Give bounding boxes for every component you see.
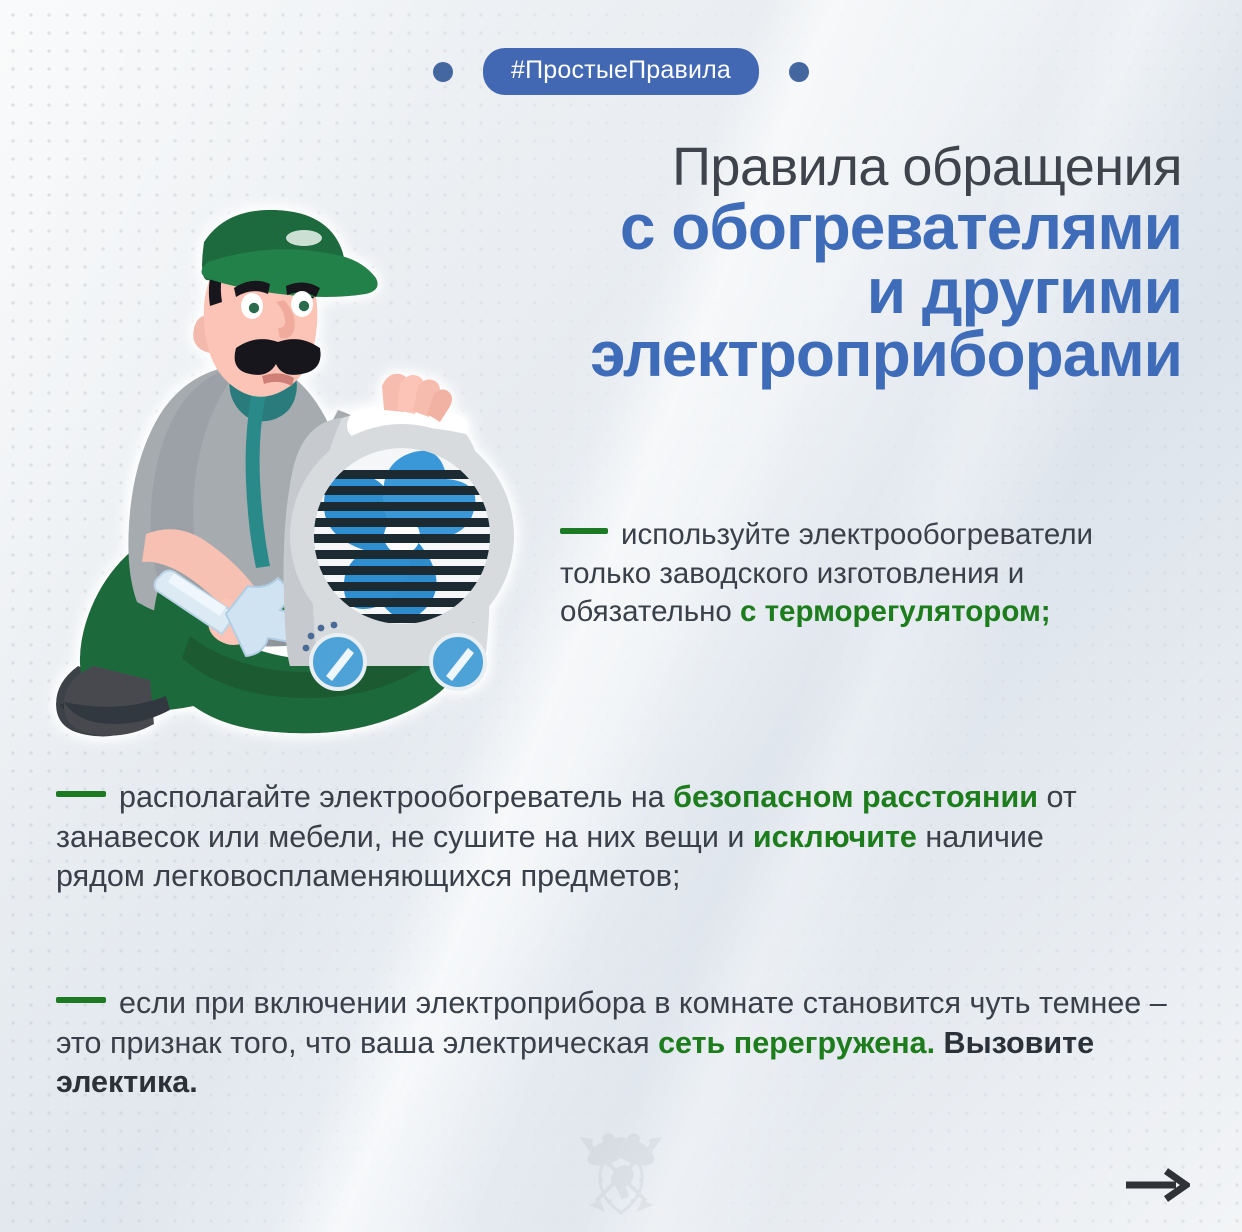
title-line-3: и другими: [342, 261, 1182, 322]
arrow-right-icon: [1124, 1168, 1190, 1202]
page-title: Правила обращения с обогревателями и дру…: [342, 140, 1182, 385]
decorative-dot-left: [433, 62, 453, 82]
bullet-dash-icon: [56, 997, 106, 1003]
title-line-1: Правила обращения: [342, 140, 1182, 195]
bullet-dash-icon: [560, 528, 608, 534]
bullet-2-part-1: безопасном расстоянии: [673, 780, 1038, 814]
bullet-2-part-0: располагайте электрообогреватель на: [119, 780, 673, 814]
investigative-committee-emblem: [573, 1132, 669, 1224]
bullet-1-part-1: с терморегулятором;: [740, 595, 1051, 628]
bullet-1-text: используйте электрообогреватели только з…: [560, 516, 1120, 632]
bullet-safe-distance: располагайте электрообогреватель на безо…: [56, 778, 1116, 897]
bullet-2-text: располагайте электрообогреватель на безо…: [56, 778, 1116, 897]
hashtag-row: #ПростыеПравила: [0, 48, 1242, 95]
cap-logo: [286, 230, 322, 246]
title-line-4: электроприборами: [342, 324, 1182, 385]
pupil-left: [249, 303, 259, 313]
bullet-2-part-3: исключите: [753, 820, 917, 854]
bullet-overloaded-network: если при включении электроприбора в комн…: [56, 984, 1206, 1103]
next-slide-arrow[interactable]: [1124, 1168, 1190, 1202]
title-line-2: с обогревателями: [342, 197, 1182, 258]
bullet-3-text: если при включении электроприбора в комн…: [56, 984, 1206, 1103]
hashtag-badge[interactable]: #ПростыеПравила: [483, 48, 759, 95]
bullet-3-part-1: сеть перегружена.: [658, 1026, 935, 1060]
bullet-dash-icon: [56, 791, 106, 797]
pupil-right: [299, 301, 309, 311]
infographic-poster: #ПростыеПравила Правила обращения с обог…: [0, 0, 1242, 1232]
decorative-dot-right: [789, 62, 809, 82]
bullet-factory-made: используйте электрообогреватели только з…: [560, 516, 1120, 632]
